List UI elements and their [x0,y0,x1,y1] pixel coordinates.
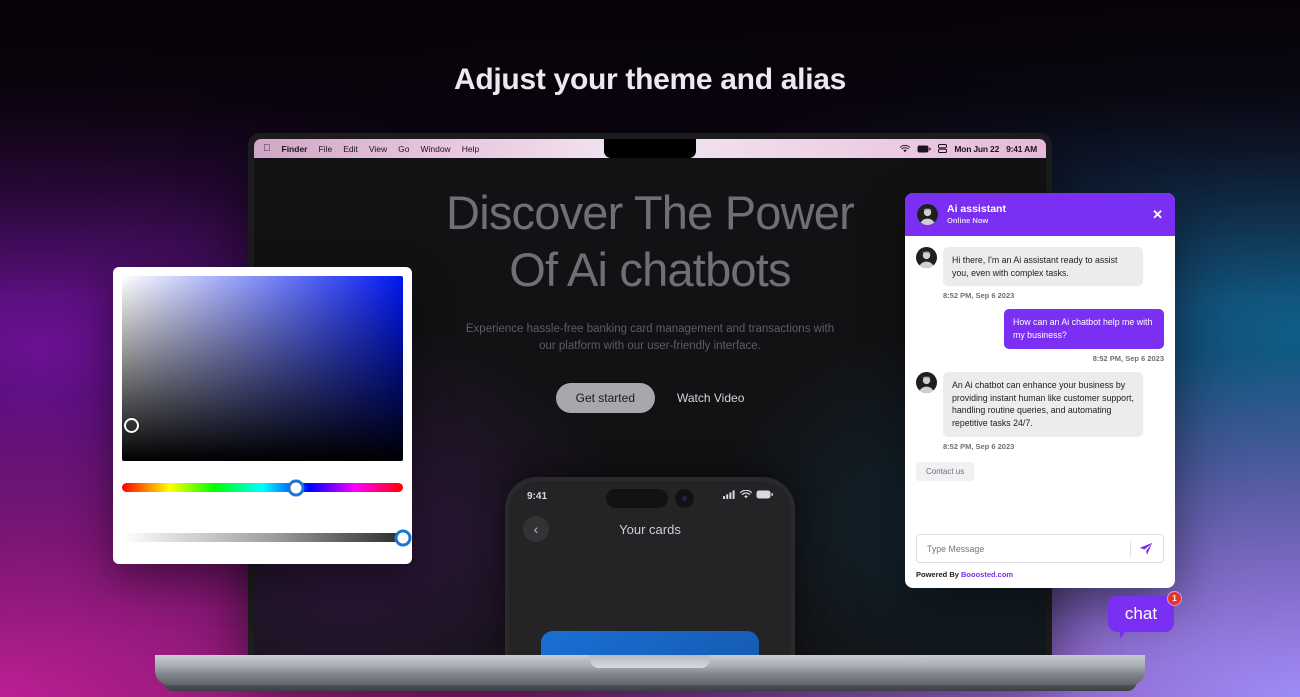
front-camera-icon [675,489,694,508]
cellular-icon [723,490,736,502]
chat-message-bot: Hi there, I'm an Ai assistant ready to a… [916,247,1164,287]
battery-icon [756,490,773,502]
apple-icon[interactable]:  [263,144,271,154]
assistant-avatar [917,204,938,225]
menu-item-help[interactable]: Help [462,144,479,154]
menubar-time[interactable]: 9:41 AM [1006,144,1037,154]
chat-assistant-name: Ai assistant [947,203,1006,216]
chat-bubble-text: How can an Ai chatbot help me with my bu… [1004,309,1164,349]
unread-badge: 1 [1167,591,1182,606]
chat-timestamp: 8:52 PM, Sep 6 2023 [916,354,1164,363]
menu-item-view[interactable]: View [369,144,387,154]
battery-icon[interactable] [917,145,931,153]
hue-slider[interactable] [122,483,403,492]
phone-screen: 9:41 [509,481,791,661]
chat-launcher-button[interactable]: chat 1 [1108,596,1178,641]
hue-slider-handle[interactable] [288,479,305,496]
alpha-slider[interactable] [122,533,403,542]
chat-message-user: How can an Ai chatbot help me with my bu… [916,309,1164,349]
saturation-value-area[interactable] [122,276,403,461]
powered-by-link[interactable]: Booosted.com [961,570,1013,579]
assistant-avatar [916,372,937,393]
chat-timestamp: 8:52 PM, Sep 6 2023 [943,442,1164,451]
macbook-notch [604,139,696,158]
saturation-handle[interactable] [124,418,139,433]
message-input-wrapper[interactable] [916,534,1164,563]
chat-widget: Ai assistant Online Now ✕ Hi there, I'm … [905,193,1175,588]
assistant-avatar [916,247,937,268]
laptop-base-notch [590,655,710,668]
menu-item-file[interactable]: File [318,144,332,154]
wifi-icon [740,490,752,502]
chat-assistant-status: Online Now [947,216,1006,226]
menubar-date[interactable]: Mon Jun 22 [954,144,999,154]
get-started-button[interactable]: Get started [556,383,655,413]
menu-item-edit[interactable]: Edit [343,144,358,154]
watch-video-button[interactable]: Watch Video [677,391,744,405]
menu-item-go[interactable]: Go [398,144,409,154]
chat-message-list: Hi there, I'm an Ai assistant ready to a… [905,236,1175,526]
chat-message-bot: An Ai chatbot can enhance your business … [916,372,1164,437]
dynamic-island [606,489,694,508]
chat-widget-footer: Powered By Booosted.com [905,526,1175,588]
message-input[interactable] [927,544,1130,554]
laptop-base [155,655,1145,685]
page-title: Adjust your theme and alias [0,63,1300,97]
quick-reply-contact-us[interactable]: Contact us [916,462,974,481]
chat-bubble-text: Hi there, I'm an Ai assistant ready to a… [943,247,1143,287]
phone-mockup: 9:41 [505,477,795,661]
island-pill [606,489,668,508]
powered-by: Powered By Booosted.com [916,570,1164,579]
menu-item-window[interactable]: Window [420,144,450,154]
chat-launcher-bubble[interactable]: chat [1108,596,1174,632]
chat-launcher-label: chat [1125,604,1157,624]
powered-by-label: Powered By [916,570,961,579]
hue-slider-track[interactable] [122,483,403,492]
input-divider [1130,541,1131,557]
color-picker-panel[interactable] [113,267,412,564]
control-center-icon[interactable] [938,144,947,153]
wifi-icon[interactable] [900,145,910,153]
alpha-slider-handle[interactable] [395,529,412,546]
mac-menubar:  Finder File Edit View Go Window Help [254,139,1046,158]
phone-nav-bar: ‹ Your cards [509,516,791,542]
chat-widget-header: Ai assistant Online Now ✕ [905,193,1175,236]
close-icon[interactable]: ✕ [1152,208,1163,221]
phone-page-title: Your cards [509,522,791,537]
hero-subtext: Experience hassle-free banking card mana… [460,321,840,356]
send-icon[interactable] [1139,542,1159,556]
alpha-slider-track[interactable] [122,533,403,542]
phone-time: 9:41 [527,491,547,502]
menu-item-finder[interactable]: Finder [282,144,308,154]
chat-timestamp: 8:52 PM, Sep 6 2023 [943,291,1164,300]
chat-bubble-text: An Ai chatbot can enhance your business … [943,372,1143,437]
